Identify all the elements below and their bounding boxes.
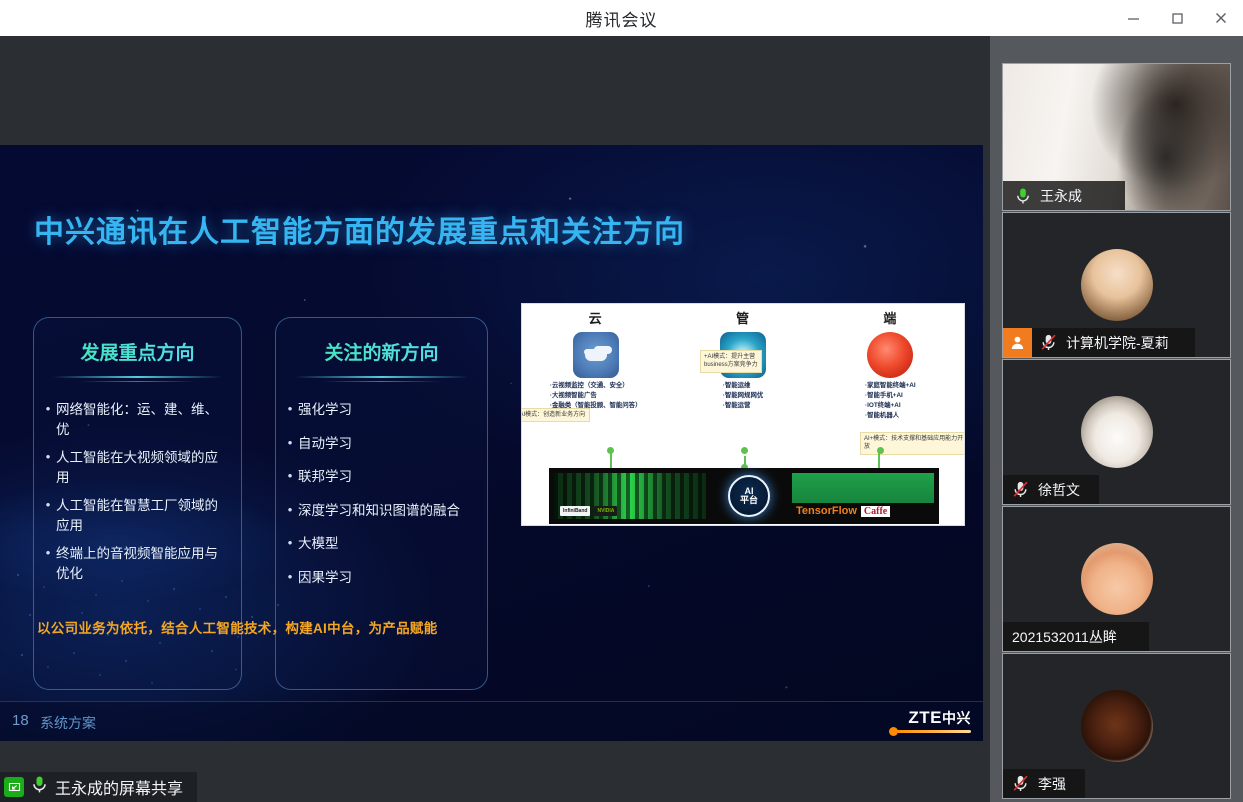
slide-section-label: 系统方案 bbox=[40, 713, 96, 733]
window-controls bbox=[1111, 0, 1243, 36]
diagram-node bbox=[877, 447, 884, 454]
window-titlebar: 腾讯会议 bbox=[0, 0, 1243, 36]
bullet-dot-icon: • bbox=[282, 400, 298, 419]
card-1-bullet-list: •网络智能化：运、建、维、优 •人工智能在大视频领域的应用 •人工智能在智慧工厂… bbox=[40, 400, 231, 584]
zte-logo-underline bbox=[893, 730, 971, 733]
cloud-icon bbox=[573, 332, 619, 378]
participant-tile-liqiang[interactable]: 李强 bbox=[1002, 653, 1231, 799]
microphone-on-icon[interactable] bbox=[1012, 187, 1034, 205]
microphone-off-icon[interactable] bbox=[1038, 333, 1060, 352]
card-2-divider bbox=[295, 376, 468, 378]
diagram-item: ·智能运维 bbox=[723, 381, 763, 391]
list-item: •深度学习和知识图谱的融合 bbox=[282, 501, 477, 521]
slide-footer: 18 系统方案 ZTE中兴 bbox=[0, 701, 983, 741]
microphone-on-icon bbox=[31, 775, 48, 799]
participant-name-strip: 2021532011丛眸 bbox=[1003, 622, 1149, 651]
hardware-logos: InfiniBand NVIDIA bbox=[560, 506, 617, 516]
diagram-node bbox=[741, 447, 748, 454]
participant-panel[interactable]: 王永成 计算机学院-夏莉 bbox=[990, 36, 1243, 802]
avatar bbox=[1081, 543, 1153, 615]
datacenter-photo: InfiniBand NVIDIA bbox=[554, 473, 706, 519]
window-title: 腾讯会议 bbox=[586, 6, 658, 31]
participant-name: 徐哲文 bbox=[1038, 480, 1080, 500]
ai-badge-line2: 平台 bbox=[740, 496, 758, 505]
screen-share-banner: 王永成的屏幕共享 bbox=[0, 772, 197, 802]
bullet-text: 网络智能化：运、建、维、优 bbox=[56, 400, 231, 439]
infiniband-logo: InfiniBand bbox=[560, 506, 590, 516]
minimize-button[interactable] bbox=[1111, 0, 1155, 36]
microphone-off-icon[interactable] bbox=[1010, 774, 1032, 793]
diagram-column-terminal: 端 ·家庭智能终端+AI ·智能手机+AI ·IOT终端+AI ·智能机器人 bbox=[817, 308, 964, 438]
participant-tile-xuzhewen[interactable]: 徐哲文 bbox=[1002, 359, 1231, 505]
diagram-item: ·云视频监控（交通、安全） bbox=[550, 381, 642, 391]
list-item: •人工智能在大视频领域的应用 bbox=[40, 448, 231, 487]
ai-platform-badge: AI 平台 bbox=[728, 475, 770, 517]
participant-name: 计算机学院-夏莉 bbox=[1066, 333, 1169, 353]
participant-name: 李强 bbox=[1038, 774, 1066, 794]
diagram-column-items: ·家庭智能终端+AI ·智能手机+AI ·IOT终端+AI ·智能机器人 bbox=[865, 381, 916, 421]
bullet-dot-icon: • bbox=[282, 467, 298, 486]
tensorflow-label: TensorFlow bbox=[796, 505, 857, 517]
bullet-dot-icon: • bbox=[40, 544, 56, 563]
bullet-dot-icon: • bbox=[282, 434, 298, 453]
list-item: •人工智能在智慧工厂领域的应用 bbox=[40, 496, 231, 535]
list-item: •终端上的音视频智能应用与优化 bbox=[40, 544, 231, 583]
bullet-dot-icon: • bbox=[40, 496, 56, 515]
card-2-divider-secondary bbox=[322, 381, 440, 382]
diagram-column-items: ·智能运维 ·智能网规网优 ·智能运营 bbox=[723, 381, 763, 411]
framework-photo: TensorFlow Caffe bbox=[792, 473, 934, 519]
zte-logo-text: ZTE bbox=[908, 708, 942, 727]
diagram-node bbox=[607, 447, 614, 454]
shared-screen-stage: 中兴通讯在人工智能方面的发展重点和关注方向 发展重点方向 •网络智能化：运、建、… bbox=[0, 36, 990, 802]
presentation-slide: 中兴通讯在人工智能方面的发展重点和关注方向 发展重点方向 •网络智能化：运、建、… bbox=[0, 145, 983, 741]
diagram-item: ·智能机器人 bbox=[865, 411, 916, 421]
screen-share-owner-label: 王永成的屏幕共享 bbox=[55, 775, 183, 799]
bullet-dot-icon: • bbox=[282, 534, 298, 553]
zte-logo: ZTE中兴 bbox=[908, 708, 971, 728]
diagram-item: ·智能网规网优 bbox=[723, 391, 763, 401]
bullet-dot-icon: • bbox=[40, 448, 56, 467]
ai-platform-strip: InfiniBand NVIDIA AI 平台 TensorFlow bbox=[549, 468, 939, 524]
bullet-dot-icon: • bbox=[40, 400, 56, 419]
callout-note: +AI模式：创造新业务方向 bbox=[521, 408, 590, 422]
card-1-heading: 发展重点方向 bbox=[34, 338, 241, 365]
participant-tile-wang-yongcheng[interactable]: 王永成 bbox=[1002, 63, 1231, 211]
diagram-column-head: 云 bbox=[522, 308, 669, 327]
card-2-heading: 关注的新方向 bbox=[276, 338, 487, 365]
avatar bbox=[1081, 249, 1153, 321]
card-1-divider bbox=[53, 376, 223, 378]
participant-tile-congmou[interactable]: 2021532011丛眸 bbox=[1002, 506, 1231, 652]
list-item: •因果学习 bbox=[282, 568, 477, 588]
neural-net-graphic bbox=[792, 473, 934, 503]
caffe-logo: Caffe bbox=[861, 506, 890, 517]
card-1-divider-secondary bbox=[80, 381, 196, 382]
tensorflow-logo: TensorFlow bbox=[796, 505, 857, 517]
framework-logos: TensorFlow Caffe bbox=[796, 505, 890, 517]
diagram-item: ·智能运营 bbox=[723, 401, 763, 411]
screen-share-icon bbox=[4, 777, 24, 797]
card-2-bullet-list: •强化学习 •自动学习 •联邦学习 •深度学习和知识图谱的融合 •大模型 •因果… bbox=[282, 400, 477, 587]
diagram-column-head: 端 bbox=[817, 308, 964, 327]
bullet-text: 联邦学习 bbox=[298, 467, 477, 487]
diagram-item: ·家庭智能终端+AI bbox=[865, 381, 916, 391]
architecture-diagram: 云 ·云视频监控（交通、安全） ·大视频智能广告 ·金融类（智能投顾、智能问答）… bbox=[521, 303, 965, 526]
diagram-column-pipe: 管 ·智能运维 ·智能网规网优 ·智能运营 bbox=[669, 308, 816, 438]
slide-page-number: 18 bbox=[12, 712, 29, 729]
list-item: •强化学习 bbox=[282, 400, 477, 420]
maximize-button[interactable] bbox=[1155, 0, 1199, 36]
diagram-column-items: ·云视频监控（交通、安全） ·大视频智能广告 ·金融类（智能投顾、智能问答） bbox=[550, 381, 642, 411]
ai-platform-center: AI 平台 bbox=[706, 468, 792, 524]
bullet-text: 强化学习 bbox=[298, 400, 477, 420]
list-item: •大模型 bbox=[282, 534, 477, 554]
slide-title: 中兴通讯在人工智能方面的发展重点和关注方向 bbox=[34, 207, 685, 251]
host-badge-icon bbox=[1003, 328, 1032, 357]
bullet-text: 大模型 bbox=[298, 534, 477, 554]
bullet-text: 人工智能在大视频领域的应用 bbox=[56, 448, 231, 487]
zte-logo-cn: 中兴 bbox=[942, 710, 971, 726]
bullet-text: 深度学习和知识图谱的融合 bbox=[298, 501, 477, 521]
list-item: •联邦学习 bbox=[282, 467, 477, 487]
participant-name: 王永成 bbox=[1040, 186, 1082, 206]
participant-name-strip: 计算机学院-夏莉 bbox=[1003, 328, 1195, 357]
avatar bbox=[1081, 690, 1153, 762]
diagram-item: ·IOT终端+AI bbox=[865, 401, 916, 411]
chip-icon bbox=[867, 332, 913, 378]
list-item: •网络智能化：运、建、维、优 bbox=[40, 400, 231, 439]
avatar bbox=[1081, 396, 1153, 468]
participant-name-strip: 李强 bbox=[1003, 769, 1085, 798]
slide-highlight-note: 以公司业务为依托，结合人工智能技术，构建AI中台，为产品赋能 bbox=[37, 617, 438, 637]
bullet-text: 终端上的音视频智能应用与优化 bbox=[56, 544, 231, 583]
microphone-off-icon[interactable] bbox=[1010, 480, 1032, 499]
bullet-text: 人工智能在智慧工厂领域的应用 bbox=[56, 496, 231, 535]
bullet-text: 因果学习 bbox=[298, 568, 477, 588]
participant-name-strip: 王永成 bbox=[1003, 181, 1125, 210]
participant-name: 2021532011丛眸 bbox=[1012, 627, 1117, 647]
bullet-text: 自动学习 bbox=[298, 434, 477, 454]
diagram-item: ·智能手机+AI bbox=[865, 391, 916, 401]
participant-name-strip: 徐哲文 bbox=[1003, 475, 1099, 504]
callout-note: +AI模式：提升主营business方案竞争力 bbox=[700, 350, 762, 373]
diagram-column-head: 管 bbox=[669, 308, 816, 327]
bullet-dot-icon: • bbox=[282, 501, 298, 520]
close-button[interactable] bbox=[1199, 0, 1243, 36]
bullet-dot-icon: • bbox=[282, 568, 298, 587]
diagram-item: ·大视频智能广告 bbox=[550, 391, 642, 401]
participant-tile-xiali[interactable]: 计算机学院-夏莉 bbox=[1002, 212, 1231, 358]
nvidia-logo: NVIDIA bbox=[594, 506, 617, 516]
list-item: •自动学习 bbox=[282, 434, 477, 454]
